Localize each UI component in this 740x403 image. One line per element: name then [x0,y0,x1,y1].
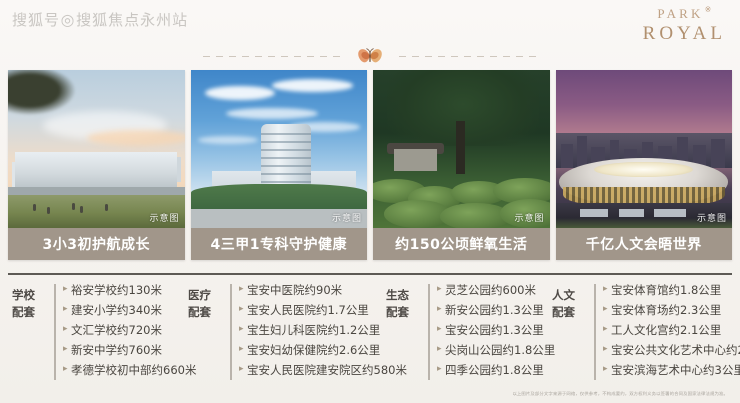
card-title: 千亿人文会晤世界 [586,234,702,254]
category-divider [428,284,430,380]
list-item-label: 孝德学校初中部约660米 [71,363,196,379]
amenity-category-label: 学校 配套 [8,281,48,320]
amenities-columns: 学校 配套 ▸裕安学校约130米 ▸建安小学约340米 ▸文汇学校约720米 ▸… [8,281,732,383]
bullet-icon: ▸ [63,303,71,317]
list-item-label: 宝安体育场约2.3公里 [611,303,721,319]
list-item-label: 宝安公园约1.3公里 [445,323,544,339]
watermark-text-2: 搜狐焦点永州站 [76,11,188,29]
list-item: ▸宝安公共文化艺术中心约2.1公里 [603,343,740,359]
photo-scene-stadium-twilight [556,70,733,228]
category-line-1: 人文 [552,287,588,304]
list-item: ▸尖岗山公园约1.8公里 [437,343,555,359]
amenity-category-label: 人文 配套 [548,281,588,320]
amenity-group-ecology: 生态 配套 ▸灵芝公园约600米 ▸新安公园约1.3公里 ▸宝安公园约1.3公里… [382,281,548,383]
butterfly-icon [355,45,385,67]
panel-top-rule [8,273,732,275]
card-photo-culture: 示意图 [556,70,733,228]
card-photo-park: 示意图 [373,70,550,228]
list-item-label: 裕安学校约130米 [71,283,162,299]
list-item-label: 宝安人民医院约1.7公里 [247,303,369,319]
amenity-group-medical: 医疗 配套 ▸宝安中医院约90米 ▸宝安人民医院约1.7公里 ▸宝生妇儿科医院约… [184,281,382,383]
bullet-icon: ▸ [239,283,247,297]
list-item-label: 尖岗山公园约1.8公里 [445,343,555,359]
card-image-note: 示意图 [149,211,179,224]
photo-scene-school-dusk [8,70,185,228]
card-photo-hospital: 示意图 [191,70,368,228]
list-item-label: 新安中学约760米 [71,343,162,359]
list-item: ▸灵芝公园约600米 [437,283,555,299]
brand-line-2: ROYAL [643,24,726,43]
list-item: ▸工人文化宫约2.1公里 [603,323,740,339]
list-item: ▸新安中学约760米 [63,343,196,359]
category-line-1: 学校 [12,287,48,304]
list-item-label: 工人文化宫约2.1公里 [611,323,721,339]
card-caption-bar: 千亿人文会晤世界 [556,228,733,260]
amenity-item-list: ▸裕安学校约130米 ▸建安小学约340米 ▸文汇学校约720米 ▸新安中学约7… [63,281,196,383]
list-item-label: 宝安体育馆约1.8公里 [611,283,721,299]
bullet-icon: ▸ [437,363,445,377]
amenity-item-list: ▸灵芝公园约600米 ▸新安公园约1.3公里 ▸宝安公园约1.3公里 ▸尖岗山公… [437,281,555,383]
feature-card-school[interactable]: 示意图 3小3初护航成长 [8,70,185,260]
card-image-note: 示意图 [332,211,362,224]
bullet-icon: ▸ [239,343,247,357]
bullet-icon: ▸ [63,283,71,297]
list-item-label: 宝安妇幼保健院约2.6公里 [247,343,380,359]
bullet-icon: ▸ [63,323,71,337]
list-item-label: 建安小学约340米 [71,303,162,319]
list-item: ▸四季公园约1.8公里 [437,363,555,379]
list-item-label: 宝安中医院约90米 [247,283,342,299]
bullet-icon: ▸ [603,303,611,317]
bullet-icon: ▸ [239,363,247,377]
bullet-icon: ▸ [603,283,611,297]
photo-scene-hospital-bluesky [191,70,368,228]
bullet-icon: ▸ [239,303,247,317]
list-item-label: 四季公园约1.8公里 [445,363,544,379]
bullet-icon: ▸ [63,363,71,377]
category-line-1: 医疗 [188,287,224,304]
list-item-label: 宝生妇儿科医院约1.2公里 [247,323,380,339]
divider-dash-right [399,56,537,57]
list-item: ▸裕安学校约130米 [63,283,196,299]
amenity-group-school: 学校 配套 ▸裕安学校约130米 ▸建安小学约340米 ▸文汇学校约720米 ▸… [8,281,184,383]
feature-card-row: 示意图 3小3初护航成长 [8,70,732,260]
brand-line-1: PARK [657,7,703,20]
brand-emblem-icon: ※ [705,5,712,14]
list-item: ▸宝安体育馆约1.8公里 [603,283,740,299]
list-item-label: 文汇学校约720米 [71,323,162,339]
list-item-label: 新安公园约1.3公里 [445,303,544,319]
list-item-label: 灵芝公园约600米 [445,283,536,299]
category-line-2: 配套 [12,304,48,321]
category-divider [230,284,232,380]
list-item: ▸宝安公园约1.3公里 [437,323,555,339]
brand-logo: PARK※ ROYAL [643,6,726,43]
amenity-group-culture: 人文 配套 ▸宝安体育馆约1.8公里 ▸宝安体育场约2.3公里 ▸工人文化宫约2… [548,281,732,383]
amenity-item-list: ▸宝安体育馆约1.8公里 ▸宝安体育场约2.3公里 ▸工人文化宫约2.1公里 ▸… [603,281,740,383]
bullet-icon: ▸ [603,363,611,377]
category-divider [594,284,596,380]
feature-card-park[interactable]: 示意图 约150公顷鲜氧生活 [373,70,550,260]
list-item: ▸建安小学约340米 [63,303,196,319]
bullet-icon: ▸ [437,303,445,317]
card-photo-school: 示意图 [8,70,185,228]
site-watermark: 搜狐号◎搜狐焦点永州站 [12,9,188,30]
watermark-mark-icon: ◎ [61,11,76,30]
category-line-2: 配套 [552,304,588,321]
promo-page: 搜狐号◎搜狐焦点永州站 PARK※ ROYAL [0,0,740,403]
legal-disclaimer: 以上图片及部分文字来源于网络，仅供参考，不构成要约，双方权利义务以签署的合同及国… [512,391,728,397]
category-line-2: 配套 [188,304,224,321]
card-title: 约150公顷鲜氧生活 [395,234,527,254]
list-item-label: 宝安公共文化艺术中心约2.1公里 [611,343,740,359]
category-line-1: 生态 [386,287,422,304]
bullet-icon: ▸ [437,283,445,297]
bullet-icon: ▸ [63,343,71,357]
card-title: 4三甲1专科守护健康 [211,234,347,254]
feature-card-hospital[interactable]: 示意图 4三甲1专科守护健康 [191,70,368,260]
card-image-note: 示意图 [697,211,727,224]
list-item: ▸宝安滨海艺术中心约3公里 [603,363,740,379]
card-caption-bar: 4三甲1专科守护健康 [191,228,368,260]
section-divider [0,45,740,67]
list-item: ▸宝安体育场约2.3公里 [603,303,740,319]
amenity-category-label: 生态 配套 [382,281,422,320]
card-title: 3小3初护航成长 [43,234,150,254]
bullet-icon: ▸ [437,343,445,357]
list-item: ▸孝德学校初中部约660米 [63,363,196,379]
card-caption-bar: 约150公顷鲜氧生活 [373,228,550,260]
bullet-icon: ▸ [437,323,445,337]
divider-dash-left [203,56,341,57]
category-divider [54,284,56,380]
list-item: ▸文汇学校约720米 [63,323,196,339]
card-image-note: 示意图 [514,211,544,224]
list-item: ▸新安公园约1.3公里 [437,303,555,319]
card-caption-bar: 3小3初护航成长 [8,228,185,260]
feature-card-culture[interactable]: 示意图 千亿人文会晤世界 [556,70,733,260]
category-line-2: 配套 [386,304,422,321]
bullet-icon: ▸ [603,343,611,357]
bullet-icon: ▸ [603,323,611,337]
bullet-icon: ▸ [239,323,247,337]
photo-scene-green-garden [373,70,550,228]
list-item-label: 宝安滨海艺术中心约3公里 [611,363,740,379]
watermark-text-1: 搜狐号 [12,11,60,29]
amenities-panel: 学校 配套 ▸裕安学校约130米 ▸建安小学约340米 ▸文汇学校约720米 ▸… [8,273,732,395]
brand-line-1-wrap: PARK※ [643,6,726,22]
amenity-category-label: 医疗 配套 [184,281,224,320]
